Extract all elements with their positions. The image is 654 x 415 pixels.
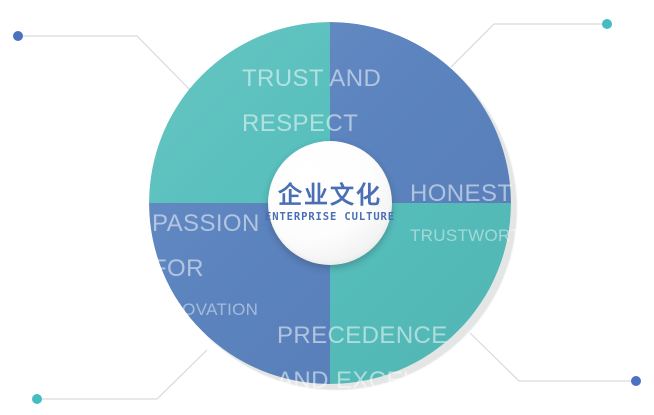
connector-dot-top-left[interactable] [13,31,23,41]
center-hub: 企业文化 ENTERPRISE CULTURE [268,141,392,265]
connector-dot-bottom-right[interactable] [631,376,641,386]
culture-wheel: 企业文化 ENTERPRISE CULTURE [149,22,511,384]
connector-dot-bottom-left[interactable] [32,394,42,404]
hub-title-chinese: 企业文化 [278,183,382,208]
connector-dot-top-right[interactable] [602,19,612,29]
infographic-canvas: 企业文化 ENTERPRISE CULTURE TRUST AND RESPEC… [0,0,654,415]
hub-title-english: ENTERPRISE CULTURE [265,211,395,223]
